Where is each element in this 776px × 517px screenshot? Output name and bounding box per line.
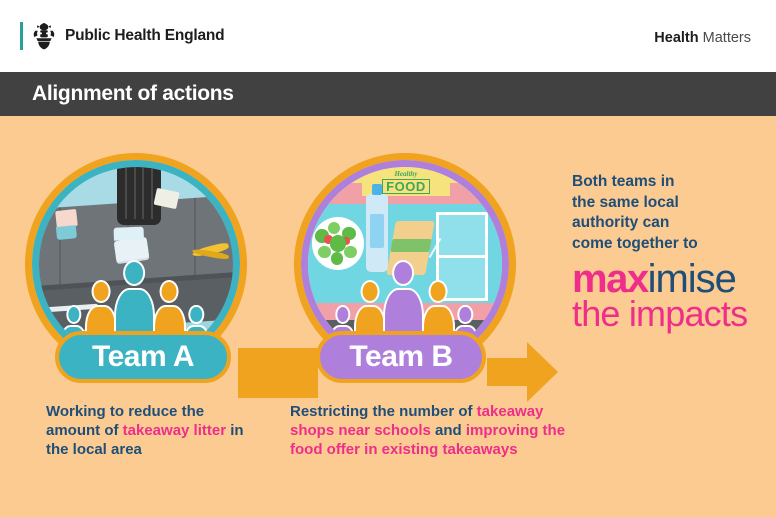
- bin-rib: [134, 167, 136, 218]
- drink-cup-litter-icon: [56, 209, 79, 229]
- outcome-lead: Both teams in the same local authority c…: [572, 172, 772, 254]
- infographic-slide: Public Health England Health Matters Ali…: [0, 0, 776, 517]
- health-matters-brand: Health Matters: [654, 30, 751, 46]
- caption-text-plain: amount of: [46, 422, 123, 439]
- shop-sign-script: Healthy: [362, 171, 449, 178]
- team-a-caption: Working to reduce the amount of takeaway…: [46, 402, 251, 460]
- outcome-lead-line: Both teams in: [572, 172, 772, 193]
- arrow-head: [527, 342, 558, 402]
- bottle-label: [370, 214, 384, 249]
- caption-text-highlight: takeaway litter: [123, 422, 226, 439]
- banana-peel-icon: [192, 241, 229, 260]
- salad-leaf: [344, 246, 357, 259]
- bin-rib: [142, 167, 144, 218]
- outcome-lead-line: come together to: [572, 234, 772, 255]
- caption-text-plain: Working to reduce the: [46, 403, 204, 420]
- phe-logo-text: Public Health England: [65, 27, 224, 45]
- person-head: [458, 305, 473, 324]
- health-matters-bold: Health: [654, 30, 698, 46]
- page-title: Alignment of actions: [32, 82, 234, 106]
- brand-accent-bar: [20, 22, 23, 50]
- person-head: [66, 305, 81, 324]
- team-a-badge-label: Team A: [92, 340, 194, 374]
- outcome-lead-line: the same local: [572, 193, 772, 214]
- team-b-badge: Team B: [316, 331, 486, 383]
- outcome-text-block: Both teams in the same local authority c…: [572, 172, 772, 332]
- phe-logo: Public Health England: [20, 22, 224, 50]
- person-head: [189, 305, 204, 324]
- team-b-caption: Restricting the number of takeaway shops…: [290, 402, 572, 460]
- person-head: [124, 260, 146, 286]
- outcome-lead-line: authority can: [572, 213, 772, 234]
- caption-text-plain: and: [431, 422, 462, 439]
- bin-rib: [125, 167, 127, 218]
- caption-text-plain: Restricting the number of: [290, 403, 473, 420]
- person-head: [335, 305, 350, 324]
- royal-crest-icon: [31, 22, 57, 50]
- salad-leaf: [318, 246, 331, 259]
- page-header: Public Health England Health Matters: [0, 0, 776, 72]
- team-b-badge-label: Team B: [349, 340, 452, 374]
- outcome-subheadline: the impacts: [572, 296, 772, 332]
- title-bar: Alignment of actions: [0, 72, 776, 116]
- team-a-badge: Team A: [55, 331, 231, 383]
- sandwich-filling: [391, 240, 432, 253]
- person-head: [160, 280, 179, 303]
- health-matters-regular: Matters: [699, 30, 751, 46]
- salad-leaf: [328, 222, 341, 235]
- bin-rib: [151, 167, 153, 218]
- person-head: [92, 280, 111, 303]
- shop-sign-main: FOOD: [382, 179, 430, 194]
- person-head: [429, 280, 448, 303]
- person-head: [393, 260, 415, 286]
- person-head: [361, 280, 380, 303]
